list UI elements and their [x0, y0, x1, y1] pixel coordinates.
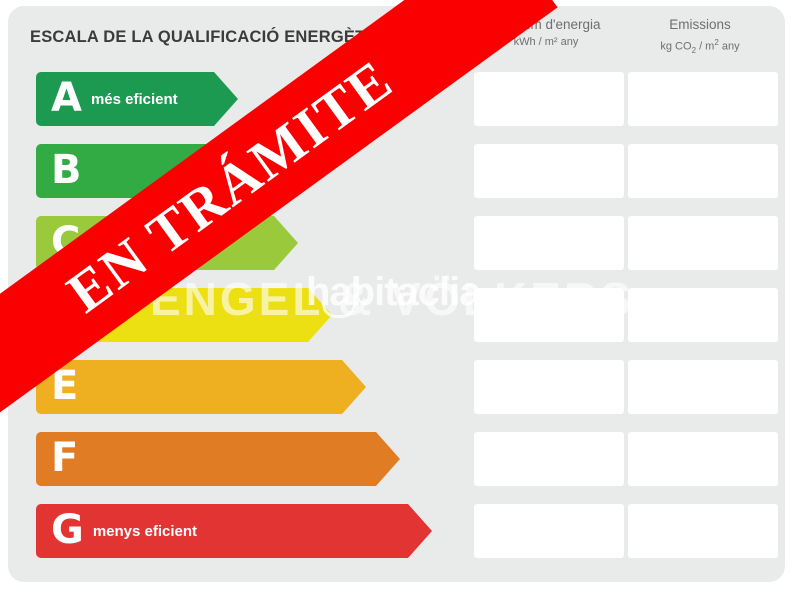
- rating-caption-g: menys eficient: [93, 523, 197, 540]
- rating-bar-wrap-d: D: [36, 288, 308, 342]
- rating-bar-wrap-c: C: [36, 216, 274, 270]
- value-cell-consumption-e: [474, 360, 624, 414]
- rating-letter-g: G: [51, 510, 84, 550]
- rating-bar-c: C: [36, 216, 274, 270]
- rating-rows: Amés eficientBCDEFGmenys eficient: [8, 6, 785, 582]
- rating-bar-wrap-a: Amés eficient: [36, 72, 214, 126]
- rating-bar-f: F: [36, 432, 376, 486]
- rating-bar-e: E: [36, 360, 342, 414]
- rating-letter-c: C: [51, 222, 80, 262]
- rating-letter-a: A: [51, 78, 82, 118]
- rating-bar-g: Gmenys eficient: [36, 504, 408, 558]
- rating-caption-a: més eficient: [91, 91, 178, 108]
- rating-bar-a: Amés eficient: [36, 72, 214, 126]
- value-cell-consumption-g: [474, 504, 624, 558]
- rating-letter-f: F: [51, 438, 78, 478]
- rating-letter-d: D: [51, 294, 84, 334]
- value-cell-emissions-g: [628, 504, 778, 558]
- rating-bar-wrap-g: Gmenys eficient: [36, 504, 408, 558]
- rating-row-a: Amés eficient: [8, 72, 785, 126]
- energy-certificate-image: ESCALA DE LA QUALIFICACIÓ ENERGÈTICA Con…: [0, 0, 798, 600]
- value-cell-consumption-b: [474, 144, 624, 198]
- value-cell-emissions-c: [628, 216, 778, 270]
- value-cell-emissions-f: [628, 432, 778, 486]
- rating-bar-d: D: [36, 288, 308, 342]
- rating-row-c: C: [8, 216, 785, 270]
- value-cell-emissions-d: [628, 288, 778, 342]
- value-cell-emissions-b: [628, 144, 778, 198]
- energy-scale-card: ESCALA DE LA QUALIFICACIÓ ENERGÈTICA Con…: [8, 6, 785, 582]
- rating-row-d: D: [8, 288, 785, 342]
- rating-row-e: E: [8, 360, 785, 414]
- value-cell-consumption-a: [474, 72, 624, 126]
- rating-bar-wrap-f: F: [36, 432, 376, 486]
- value-cell-consumption-d: [474, 288, 624, 342]
- value-cell-emissions-a: [628, 72, 778, 126]
- rating-bar-b: B: [36, 144, 244, 198]
- rating-letter-b: B: [51, 150, 82, 190]
- value-cell-emissions-e: [628, 360, 778, 414]
- rating-row-b: B: [8, 144, 785, 198]
- value-cell-consumption-f: [474, 432, 624, 486]
- rating-bar-wrap-e: E: [36, 360, 342, 414]
- rating-row-f: F: [8, 432, 785, 486]
- rating-bar-wrap-b: B: [36, 144, 244, 198]
- value-cell-consumption-c: [474, 216, 624, 270]
- rating-letter-e: E: [51, 366, 78, 406]
- rating-row-g: Gmenys eficient: [8, 504, 785, 558]
